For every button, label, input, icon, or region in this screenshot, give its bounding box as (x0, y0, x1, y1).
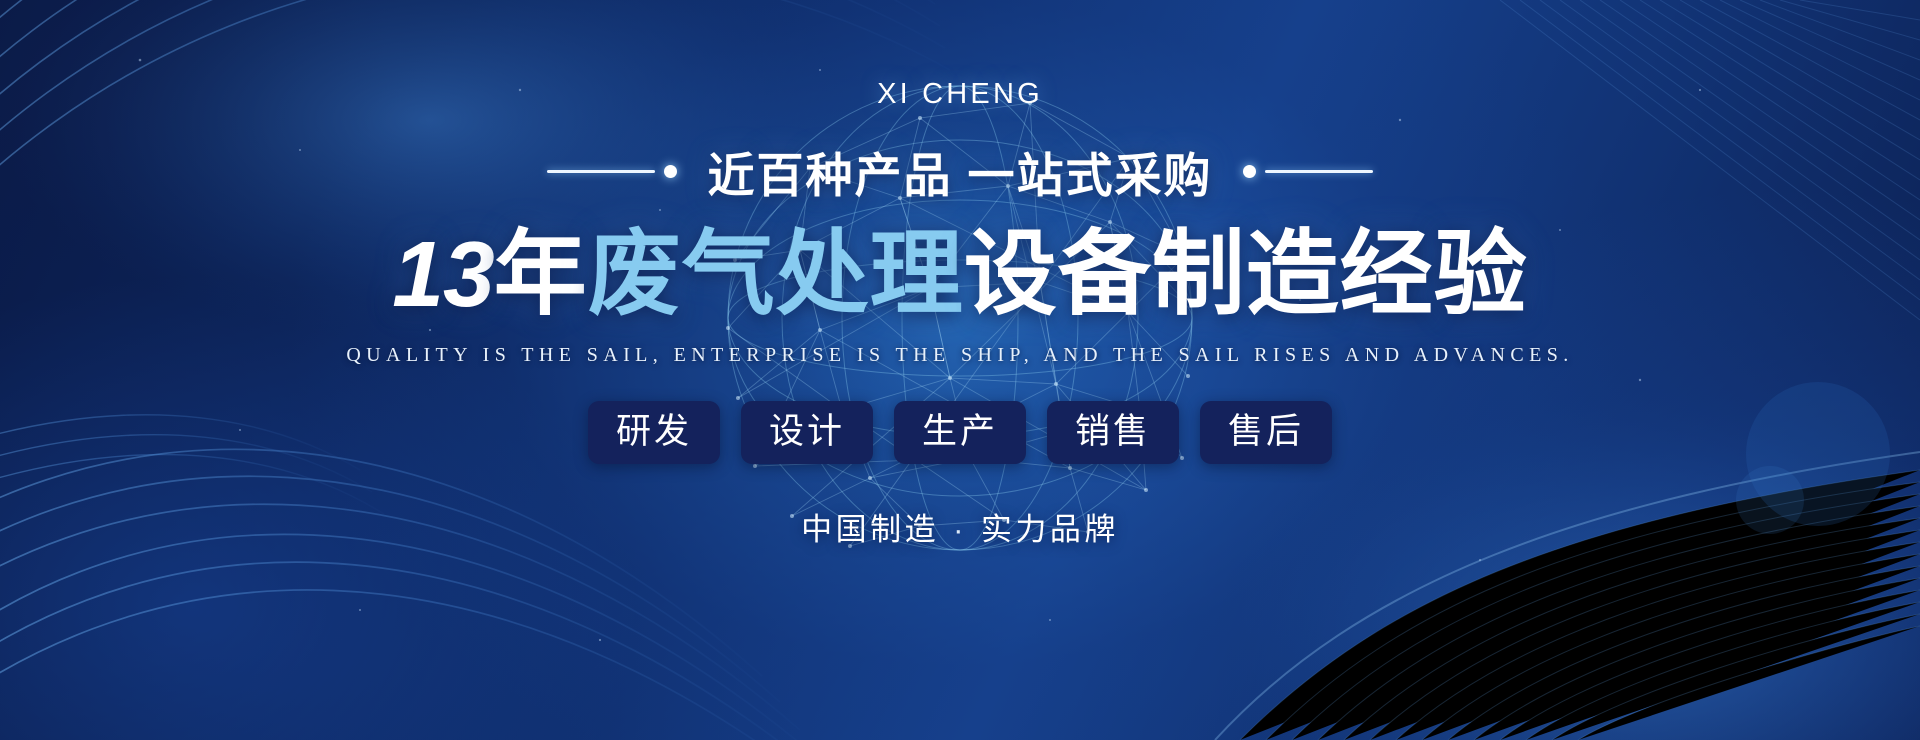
headline-highlight: 废气处理 (588, 222, 964, 326)
banner-headline: 13年废气处理设备制造经验 (392, 222, 1527, 326)
subtitle-row: 近百种产品 一站式采购 (0, 137, 1920, 206)
decorative-dot-left (664, 165, 677, 178)
banner-footer-slogan: 中国制造·实力品牌 (801, 504, 1119, 549)
headline-years-unit: 年 (494, 222, 588, 326)
banner-tagline: QUALITY IS THE SAIL, ENTERPRISE IS THE S… (346, 344, 1573, 367)
service-pill-rd[interactable]: 研发 (588, 401, 720, 464)
service-pill-row: 研发 设计 生产 销售 售后 (588, 401, 1332, 464)
service-pill-production[interactable]: 生产 (894, 401, 1026, 464)
banner-subtitle: 近百种产品 一站式采购 (707, 137, 1212, 206)
brand-name: XI CHENG (877, 78, 1043, 111)
headline-years-number: 13 (392, 222, 493, 326)
service-pill-sales[interactable]: 销售 (1047, 401, 1179, 464)
service-pill-design[interactable]: 设计 (741, 401, 873, 464)
decorative-bar-right (1265, 170, 1373, 173)
decorative-dot-right (1243, 165, 1256, 178)
hero-banner: XI CHENG 近百种产品 一站式采购 13年废气处理设备制造经验 QUALI… (0, 0, 1920, 740)
footer-slogan-left: 中国制造 (801, 512, 939, 547)
decorative-line-left (547, 165, 677, 178)
footer-slogan-right: 实力品牌 (981, 512, 1119, 547)
decorative-bar-left (547, 170, 655, 173)
decorative-line-right (1243, 165, 1373, 178)
service-pill-aftersales[interactable]: 售后 (1200, 401, 1332, 464)
headline-rest: 设备制造经验 (964, 222, 1528, 326)
footer-slogan-separator: · (953, 512, 967, 547)
